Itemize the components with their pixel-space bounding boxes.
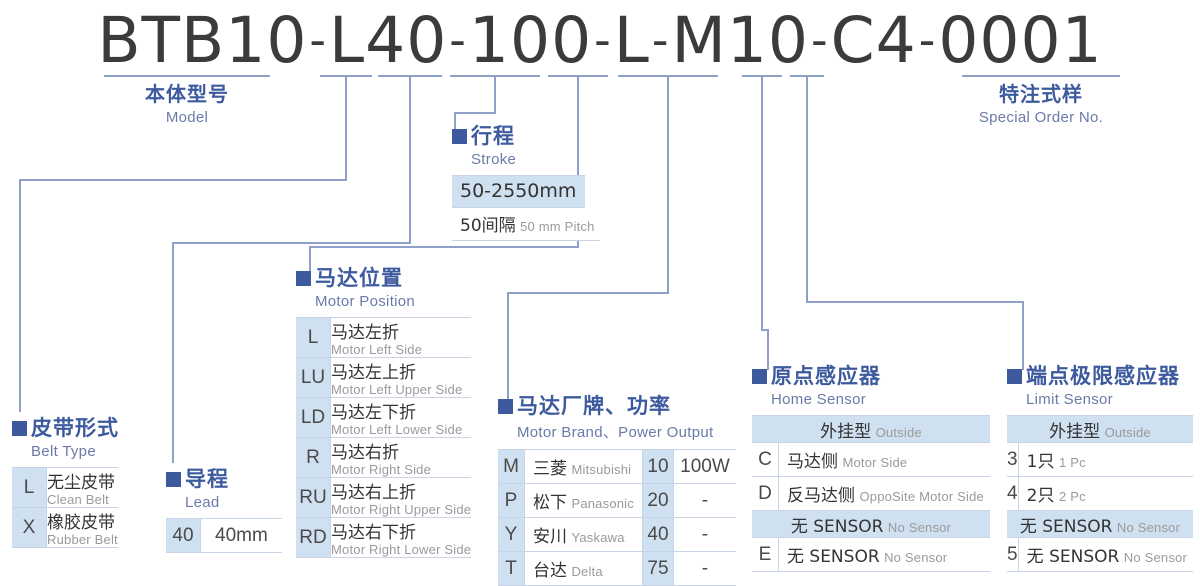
limit-sensor-code: 5 [1007,538,1018,572]
lead-value: 40mm [201,519,282,553]
group-stroke: 行程 Stroke 50-2550mm 50间隔 50 mm Pitch [452,126,600,241]
motor-brand-title: 马达厂牌、功率 [498,396,736,417]
table-row[interactable]: 3 1只 1 Pc [1007,443,1193,477]
home-sensor-band-no-sensor: 无 SENSOR No Sensor [752,511,990,538]
table-band-row: 外挂型 Outside [1007,416,1193,443]
motor-brand-code: Y [498,518,525,552]
home-sensor-desc: 反马达侧 OppoSite Motor Side [779,477,991,511]
table-row[interactable]: X 橡胶皮带 Rubber Belt [12,508,118,548]
motor-position-desc: 马达左上折 Motor Left Upper Side [331,358,472,398]
code-segment-stroke: 100 [469,4,592,77]
code-separator: - [307,13,329,67]
table-row[interactable]: 5 无 SENSOR No Sensor [1007,538,1193,572]
bullet-square-icon [1007,369,1022,384]
group-motor-brand: 马达厂牌、功率 Motor Brand、Power Output M 三菱 Mi… [498,396,736,586]
limit-sensor-code: 3 [1007,443,1018,477]
special-order-subtitle: Special Order No. [962,109,1120,126]
code-segment-lead: 40 [365,4,447,77]
motor-power-value: - [673,552,736,586]
bullet-square-icon [12,421,27,436]
table-row[interactable]: Y 安川 Yaskawa 40 - [498,518,736,552]
lead-subtitle: Lead [185,494,282,511]
stroke-title: 行程 [452,126,600,147]
code-separator: - [809,13,831,67]
motor-position-desc: 马达右折 Motor Right Side [331,438,472,478]
motor-power-code: 40 [642,518,673,552]
motor-position-title: 马达位置 [296,268,471,289]
table-band-row: 无 SENSOR No Sensor [1007,511,1193,538]
group-special-order: 特注式样 Special Order No. [962,84,1120,126]
code-segment-model: BTB10 [97,4,307,77]
table-row[interactable]: L 马达左折 Motor Left Side [296,318,471,358]
lead-table: 40 40mm [166,518,282,553]
group-home-sensor: 原点感应器 Home Sensor 外挂型 Outside C 马达侧 Moto… [752,366,990,572]
code-segment-special-order: 0001 [938,4,1102,77]
motor-position-code: R [296,438,331,478]
table-row[interactable]: T 台达 Delta 75 - [498,552,736,586]
stroke-value-box: 50-2550mm 50间隔 50 mm Pitch [452,175,600,241]
motor-position-code: LD [296,398,331,438]
group-belt-type: 皮带形式 Belt Type L 无尘皮带 Clean Belt X 橡胶皮带 … [12,418,119,548]
home-sensor-subtitle: Home Sensor [771,391,990,408]
lead-title: 导程 [166,469,282,490]
code-separator: - [650,13,672,67]
code-separator: - [917,13,939,67]
limit-sensor-desc: 1只 1 Pc [1018,443,1193,477]
table-band-row: 无 SENSOR No Sensor [752,511,990,538]
group-limit-sensor: 端点极限感应器 Limit Sensor 外挂型 Outside 3 1只 1 … [1007,366,1193,572]
table-row[interactable]: 40 40mm [166,519,282,553]
bullet-square-icon [752,369,767,384]
home-sensor-code: C [752,443,779,477]
code-segment-limit-sensor: 4 [876,4,917,77]
motor-brand-code: P [498,484,525,518]
motor-position-code: RU [296,478,331,518]
motor-position-desc: 马达左折 Motor Left Side [331,318,472,358]
motor-brand-name: 安川 Yaskawa [525,518,643,552]
motor-power-value: - [673,518,736,552]
belt-type-code: X [12,508,47,548]
motor-power-code: 75 [642,552,673,586]
table-row[interactable]: 4 2只 2 Pc [1007,477,1193,511]
home-sensor-desc: 马达侧 Motor Side [779,443,991,477]
home-sensor-table: 外挂型 Outside C 马达侧 Motor Side D 反马达侧 Oppo… [752,415,990,572]
bullet-square-icon [452,129,467,144]
home-sensor-desc: 无 SENSOR No Sensor [779,538,991,572]
table-row[interactable]: RU 马达右上折 Motor Right Upper Side [296,478,471,518]
table-band-row: 外挂型 Outside [752,416,990,443]
stroke-pitch-cn: 50间隔 [460,216,516,236]
bullet-square-icon [498,399,513,414]
motor-brand-name: 三菱 Mitsubishi [525,450,643,484]
motor-brand-subtitle: Motor Brand、Power Output [517,421,736,442]
motor-power-value: 100W [673,450,736,484]
stroke-subtitle: Stroke [471,151,600,168]
stroke-pitch-en: 50 mm Pitch [520,219,594,234]
home-sensor-band-outside: 外挂型 Outside [752,416,990,443]
motor-position-table: L 马达左折 Motor Left Side LU 马达左上折 Motor Le… [296,317,471,558]
home-sensor-code: E [752,538,779,572]
code-segment-motor-position: L [614,4,650,77]
motor-position-code: RD [296,518,331,558]
group-model: 本体型号 Model [104,84,270,126]
motor-position-desc: 马达右下折 Motor Right Lower Side [331,518,472,558]
motor-position-subtitle: Motor Position [315,293,471,310]
code-separator: - [592,13,614,67]
product-code-line: BTB10-L40-100-L-M10-C4-0001 [0,4,1200,76]
table-row[interactable]: E 无 SENSOR No Sensor [752,538,990,572]
motor-position-code: LU [296,358,331,398]
table-row[interactable]: M 三菱 Mitsubishi 10 100W [498,450,736,484]
belt-type-desc: 无尘皮带 Clean Belt [47,468,118,508]
limit-sensor-title: 端点极限感应器 [1007,366,1193,387]
table-row[interactable]: C 马达侧 Motor Side [752,443,990,477]
group-lead: 导程 Lead 40 40mm [166,469,282,553]
table-row[interactable]: P 松下 Panasonic 20 - [498,484,736,518]
home-sensor-title: 原点感应器 [752,366,990,387]
motor-power-code: 20 [642,484,673,518]
limit-sensor-table: 外挂型 Outside 3 1只 1 Pc 4 2只 2 Pc 无 SENSOR… [1007,415,1193,572]
limit-sensor-desc: 2只 2 Pc [1018,477,1193,511]
lead-code: 40 [166,519,201,553]
table-row[interactable]: RD 马达右下折 Motor Right Lower Side [296,518,471,558]
motor-brand-code: T [498,552,525,586]
belt-type-subtitle: Belt Type [31,443,119,460]
motor-position-desc: 马达左下折 Motor Left Lower Side [331,398,472,438]
bullet-square-icon [166,472,181,487]
belt-type-title: 皮带形式 [12,418,119,439]
code-segment-home-sensor: C [831,4,876,77]
motor-position-desc: 马达右上折 Motor Right Upper Side [331,478,472,518]
motor-position-code: L [296,318,331,358]
table-row[interactable]: LD 马达左下折 Motor Left Lower Side [296,398,471,438]
table-row[interactable]: LU 马达左上折 Motor Left Upper Side [296,358,471,398]
table-row[interactable]: R 马达右折 Motor Right Side [296,438,471,478]
motor-power-code: 10 [642,450,673,484]
motor-brand-table: M 三菱 Mitsubishi 10 100W P 松下 Panasonic 2… [498,449,736,586]
limit-sensor-band-no-sensor: 无 SENSOR No Sensor [1007,511,1193,538]
stroke-pitch: 50间隔 50 mm Pitch [452,208,600,241]
code-segment-motor-brand: M10 [671,4,809,77]
limit-sensor-desc: 无 SENSOR No Sensor [1018,538,1193,572]
motor-brand-name: 松下 Panasonic [525,484,643,518]
model-title: 本体型号 [104,84,270,105]
model-subtitle: Model [104,109,270,126]
belt-type-code: L [12,468,47,508]
stroke-range: 50-2550mm [452,175,585,208]
motor-brand-name: 台达 Delta [525,552,643,586]
limit-sensor-code: 4 [1007,477,1018,511]
motor-brand-code: M [498,450,525,484]
table-row[interactable]: D 反马达侧 OppoSite Motor Side [752,477,990,511]
table-row[interactable]: L 无尘皮带 Clean Belt [12,468,118,508]
group-motor-position: 马达位置 Motor Position L 马达左折 Motor Left Si… [296,268,471,558]
code-segment-belt-type: L [329,4,365,77]
home-sensor-code: D [752,477,779,511]
special-order-title: 特注式样 [962,84,1120,105]
motor-power-value: - [673,484,736,518]
limit-sensor-subtitle: Limit Sensor [1026,391,1193,408]
bullet-square-icon [296,271,311,286]
limit-sensor-band-outside: 外挂型 Outside [1007,416,1193,443]
belt-type-desc: 橡胶皮带 Rubber Belt [47,508,118,548]
code-separator: - [447,13,469,67]
belt-type-table: L 无尘皮带 Clean Belt X 橡胶皮带 Rubber Belt [12,467,118,548]
